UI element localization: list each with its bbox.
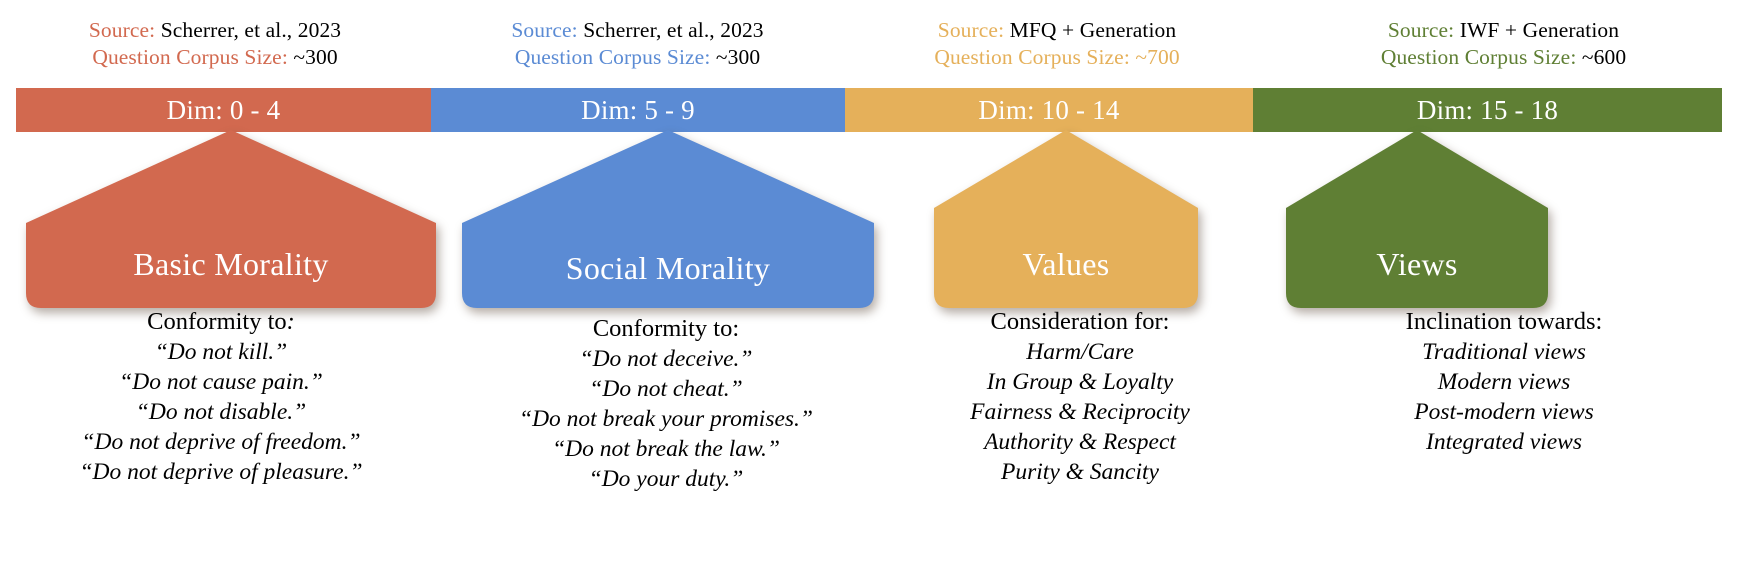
source-line: Source: Scherrer, et al., 2023: [511, 17, 763, 44]
source-line: Source: MFQ + Generation: [938, 17, 1176, 44]
description-column-views: Inclination towards: Traditional views M…: [1270, 306, 1738, 578]
list-item: “Do not break the law.”: [552, 434, 780, 464]
dimension-segment-social-morality[interactable]: Dim: 5 - 9: [431, 88, 845, 132]
list-item: Purity & Sancity: [1001, 457, 1159, 487]
banner-social-morality[interactable]: Social Morality: [462, 130, 874, 308]
banner-basic-morality[interactable]: Basic Morality: [26, 130, 436, 308]
dimension-segment-label: Dim: 15 - 18: [1417, 97, 1558, 124]
source-label: Source:: [938, 18, 1004, 42]
source-value: Scherrer, et al., 2023: [161, 18, 341, 42]
list-item: Authority & Respect: [984, 427, 1176, 457]
source-label: Source:: [89, 18, 155, 42]
source-caption-values: Source: MFQ + Generation Question Corpus…: [845, 0, 1269, 88]
source-label: Source:: [1388, 18, 1454, 42]
corpus-size-value: ~600: [1582, 45, 1626, 69]
corpus-size-value: ~300: [716, 45, 760, 69]
description-heading-text: Conformity to: [593, 315, 733, 342]
banner-layer: Basic Morality Social Morality Values Vi…: [0, 130, 1738, 310]
description-heading-colon: :: [1163, 308, 1170, 335]
corpus-size-line: Question Corpus Size: ~300: [92, 44, 337, 71]
list-item: “Do not cause pain.”: [119, 367, 323, 397]
dimension-segment-basic-morality[interactable]: Dim: 0 - 4: [16, 88, 431, 132]
corpus-size-line: Question Corpus Size: ~300: [515, 44, 760, 71]
list-item: Harm/Care: [1026, 337, 1134, 367]
description-heading-colon: :: [732, 315, 739, 342]
corpus-size-line: Question Corpus Size: ~600: [1381, 44, 1626, 71]
description-heading-text: Conformity to: [147, 308, 287, 335]
banner-label: Basic Morality: [26, 248, 436, 280]
description-column-basic-morality: Conformity to: “Do not kill.” “Do not ca…: [0, 306, 442, 578]
description-column-values: Consideration for: Harm/Care In Group & …: [890, 306, 1270, 578]
dimension-segment-values[interactable]: Dim: 10 - 14: [845, 88, 1253, 132]
list-item: Integrated views: [1426, 427, 1582, 457]
corpus-size-line: Question Corpus Size: ~700: [934, 44, 1179, 71]
source-label: Source:: [511, 18, 577, 42]
dimension-segment-label: Dim: 10 - 14: [978, 97, 1119, 124]
list-item: In Group & Loyalty: [987, 367, 1173, 397]
description-heading-colon: :: [287, 308, 295, 335]
list-item: Modern views: [1438, 367, 1571, 397]
source-line: Source: IWF + Generation: [1388, 17, 1619, 44]
description-heading-text: Consideration for: [991, 308, 1163, 335]
corpus-size-label: Question Corpus Size:: [1381, 45, 1577, 69]
banner-views[interactable]: Views: [1286, 130, 1548, 308]
description-heading: Conformity to:: [147, 306, 295, 337]
corpus-size-value: ~700: [1135, 45, 1179, 69]
source-caption-views: Source: IWF + Generation Question Corpus…: [1269, 0, 1738, 88]
list-item: “Do not disable.”: [136, 397, 306, 427]
dimension-segment-views[interactable]: Dim: 15 - 18: [1253, 88, 1722, 132]
list-item: Traditional views: [1422, 337, 1586, 367]
description-row: Conformity to: “Do not kill.” “Do not ca…: [0, 306, 1738, 578]
corpus-size-label: Question Corpus Size:: [92, 45, 288, 69]
source-caption-basic-morality: Source: Scherrer, et al., 2023 Question …: [0, 0, 430, 88]
banner-values[interactable]: Values: [934, 130, 1198, 308]
description-heading: Consideration for:: [991, 306, 1170, 337]
corpus-size-label: Question Corpus Size:: [515, 45, 711, 69]
source-caption-social-morality: Source: Scherrer, et al., 2023 Question …: [430, 0, 845, 88]
description-heading-text: Inclination towards: [1406, 308, 1596, 335]
corpus-size-label: Question Corpus Size:: [934, 45, 1130, 69]
corpus-size-value: ~300: [293, 45, 337, 69]
list-item: “Do not kill.”: [155, 337, 288, 367]
source-line: Source: Scherrer, et al., 2023: [89, 17, 341, 44]
description-heading-colon: :: [1596, 308, 1603, 335]
banner-label: Values: [934, 248, 1198, 280]
source-value: MFQ + Generation: [1010, 18, 1177, 42]
list-item: “Do not break your promises.”: [519, 404, 813, 434]
dimension-bar: Dim: 0 - 4 Dim: 5 - 9 Dim: 10 - 14 Dim: …: [16, 88, 1722, 132]
description-column-social-morality: Conformity to: “Do not deceive.” “Do not…: [442, 306, 890, 578]
list-item: “Do not deceive.”: [580, 344, 753, 374]
list-item: “Do not deprive of freedom.”: [81, 427, 360, 457]
list-item: “Do your duty.”: [589, 464, 744, 494]
banner-label: Social Morality: [462, 252, 874, 284]
description-heading: Conformity to:: [593, 313, 739, 344]
source-value: Scherrer, et al., 2023: [583, 18, 763, 42]
banner-label: Views: [1286, 248, 1548, 280]
list-item: “Do not deprive of pleasure.”: [79, 457, 362, 487]
list-item: “Do not cheat.”: [589, 374, 742, 404]
dimension-segment-label: Dim: 0 - 4: [167, 97, 281, 124]
source-value: IWF + Generation: [1460, 18, 1619, 42]
dimension-segment-label: Dim: 5 - 9: [581, 97, 695, 124]
description-heading: Inclination towards:: [1406, 306, 1603, 337]
list-item: Fairness & Reciprocity: [970, 397, 1190, 427]
list-item: Post-modern views: [1414, 397, 1594, 427]
source-caption-row: Source: Scherrer, et al., 2023 Question …: [0, 0, 1738, 88]
